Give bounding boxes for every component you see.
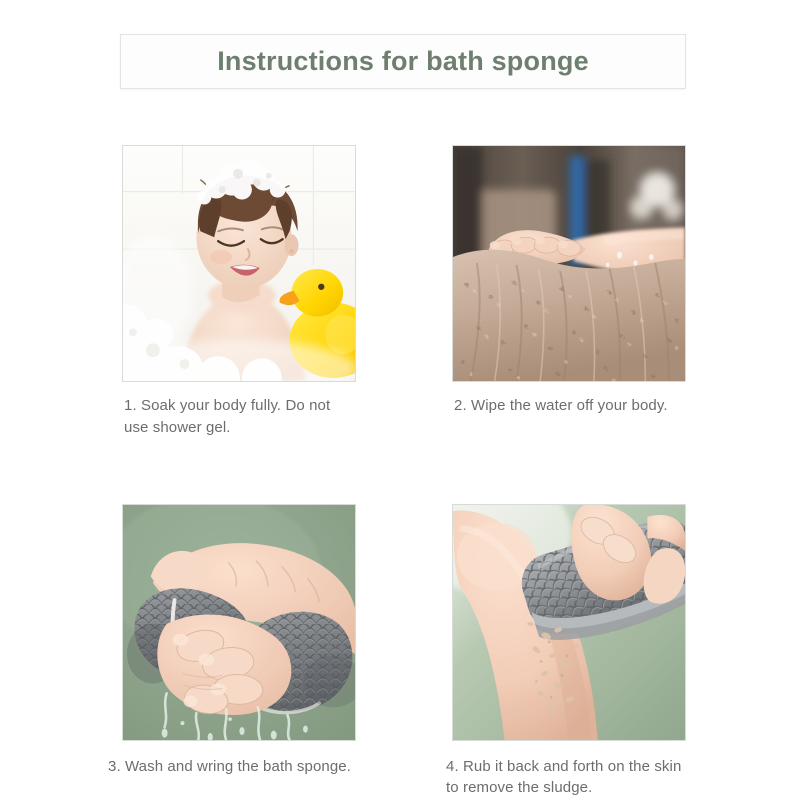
child-in-bubble-bath-photo [122,145,356,382]
step-caption-2: 2. Wipe the water off your body. [454,395,686,417]
step-caption-4: 4. Rub it back and forth on the skin to … [446,756,686,800]
step-card-4: 4. Rub it back and forth on the skin to … [452,504,686,800]
towel-drying-arm-photo [452,145,686,382]
steps-grid: 1. Soak your body fully. Do not use show… [122,145,687,799]
step-card-1: 1. Soak your body fully. Do not use show… [122,145,356,439]
step-caption-1: 1. Soak your body fully. Do not use show… [124,395,356,439]
instruction-poster: Instructions for bath sponge [0,0,800,800]
page-title: Instructions for bath sponge [217,46,589,77]
step-caption-3: 3. Wash and wring the bath sponge. [108,756,356,778]
wringing-sponge-photo [122,504,356,741]
step-card-3: 3. Wash and wring the bath sponge. [122,504,356,800]
title-box: Instructions for bath sponge [120,34,686,89]
step-card-2: 2. Wipe the water off your body. [452,145,686,439]
rubbing-sponge-on-skin-photo [452,504,686,741]
